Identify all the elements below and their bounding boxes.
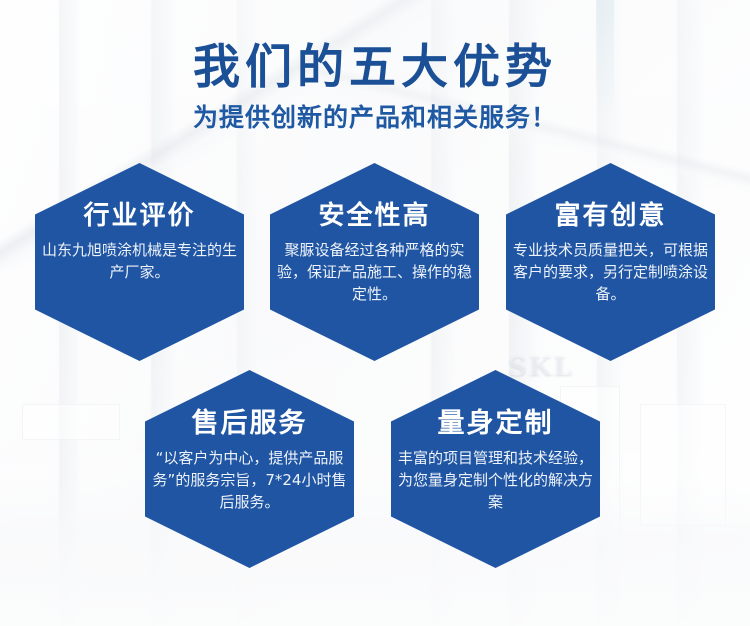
advantage-description: 聚脲设备经过各种严格的实验，保证产品施工、操作的稳定性。	[277, 240, 473, 305]
heading-block: 我们的五大优势 为提供创新的产品和相关服务！	[0, 0, 750, 130]
advantage-description: “以客户为中心，提供产品服务”的服务宗旨，7*24小时售后服务。	[152, 448, 348, 513]
advantage-description: 专业技术员质量把关，可根据客户的要求，另行定制喷涂设备。	[513, 240, 709, 305]
advantage-description: 山东九旭喷涂机械是专注的生产厂家。	[42, 240, 238, 284]
advantage-description: 丰富的项目管理和技术经验，为您量身定制个性化的解决方案	[398, 448, 594, 513]
advantages-poster: SKL 我们的五大优势 为提供创新的产品和相关服务！ 行业评价 山东九旭喷涂机械…	[0, 0, 750, 626]
advantage-title: 行业评价	[83, 203, 195, 230]
advantage-title: 安全性高	[318, 203, 430, 230]
advantage-title: 售后服务	[192, 410, 308, 438]
page-title: 我们的五大优势	[0, 0, 750, 91]
page-subtitle: 为提供创新的产品和相关服务！	[0, 91, 750, 130]
advantage-title: 富有创意	[554, 203, 666, 230]
advantage-title: 量身定制	[438, 410, 554, 438]
